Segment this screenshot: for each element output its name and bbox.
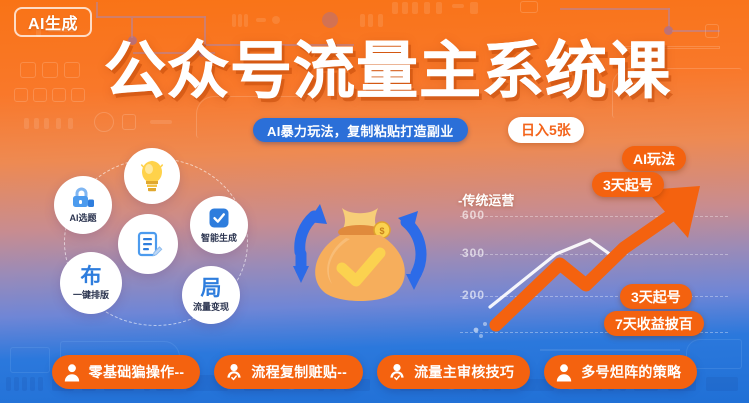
chart-badge-3day-bottom: 3天起号 — [620, 284, 692, 309]
feature-pill-bar: 零基础猵操作-- 流程复制赃贴-- 流量主审核技巧 — [0, 355, 749, 389]
workflow-node-smart-label: 智能生成 — [201, 233, 237, 244]
feature-pill-copy-process[interactable]: 流程复制赃贴-- — [214, 355, 363, 389]
workflow-node-topic: AI选题 — [54, 176, 112, 234]
lock-ai-icon — [69, 187, 97, 211]
highlight-pill-label: 日入5张 — [521, 120, 571, 140]
workflow-node-monetize-label: 流量变现 — [193, 302, 229, 313]
person-check-icon — [225, 363, 243, 382]
chart-badge-3day-bottom-label: 3天起号 — [631, 287, 681, 307]
chart-badge-ai-method: AI玩法 — [622, 146, 686, 171]
highlight-pill: 日入5张 — [508, 117, 584, 143]
workflow-node-document — [118, 214, 178, 274]
feature-pill-multi-account[interactable]: 多号炟阵的策略 — [544, 355, 697, 389]
workflow-node-smart: 智能生成 — [190, 196, 248, 254]
promo-banner: AI生成 公众号流量主系统课 AI暴力玩法，复制粘贴打造副业 日入5张 — [0, 0, 749, 403]
chart-badge-ai-method-label: AI玩法 — [633, 149, 675, 169]
money-bag-illustration: $ — [280, 182, 440, 310]
feature-pill-audit-tips[interactable]: 流量主审核技巧 — [377, 355, 530, 389]
chart-badge-3day-top: 3天起号 — [592, 172, 664, 197]
workflow-node-topic-label: AI选题 — [69, 213, 96, 224]
ai-workflow-diagram: AI选题 智能生成 布 一键排版 局 流量变现 — [36, 148, 286, 340]
chart-badge-3day-top-label: 3天起号 — [603, 175, 653, 195]
svg-text:$: $ — [379, 226, 384, 236]
chart-badge-7day-revenue: 7天收益披百 — [604, 311, 704, 336]
feature-pill-audit-tips-label: 流量主审核技巧 — [414, 362, 514, 382]
workflow-node-monetize: 局 流量变现 — [182, 266, 240, 324]
person-icon — [63, 363, 81, 382]
workflow-node-idea — [124, 148, 180, 204]
money-bag-check-icon: $ — [280, 182, 440, 310]
chart-badge-7day-revenue-label: 7天收益披百 — [615, 314, 693, 334]
feature-pill-multi-account-label: 多号炟阵的策略 — [581, 362, 681, 382]
subtitle-pill: AI暴力玩法，复制粘贴打造副业 — [253, 118, 468, 142]
workflow-node-layout: 布 一键排版 — [60, 252, 122, 314]
person-check-icon — [388, 363, 406, 382]
page-title: 公众号流量主系统课 — [104, 36, 684, 108]
person-icon — [555, 363, 573, 382]
lightbulb-icon — [137, 160, 167, 192]
feature-pill-zero-basis-label: 零基础猵操作-- — [89, 362, 185, 382]
check-square-icon — [207, 206, 231, 230]
feature-pill-zero-basis[interactable]: 零基础猵操作-- — [52, 355, 201, 389]
workflow-node-monetize-glyph: 局 — [201, 278, 222, 299]
feature-pill-copy-process-label: 流程复制赃贴-- — [251, 362, 347, 382]
document-pen-icon — [132, 228, 164, 260]
workflow-node-layout-label: 一键排版 — [73, 290, 109, 301]
workflow-node-layout-glyph: 布 — [81, 266, 102, 287]
ai-generated-badge: AI生成 — [14, 7, 92, 37]
ai-generated-badge-label: AI生成 — [28, 10, 78, 34]
subtitle-text: AI暴力玩法，复制粘贴打造副业 — [267, 121, 454, 140]
